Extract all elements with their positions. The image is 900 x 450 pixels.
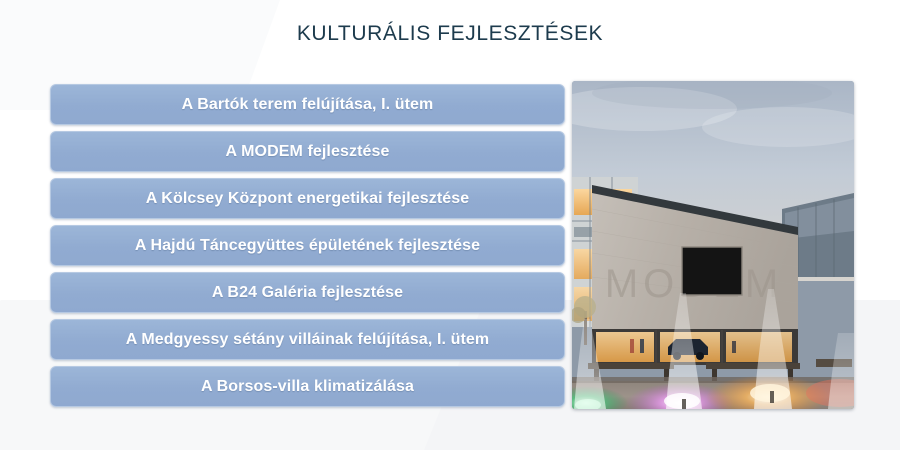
list-item-label: A Medgyessy sétány villáinak felújítása,… (126, 331, 489, 349)
list-item-label: A Kölcsey Központ energetikai fejlesztés… (146, 190, 470, 208)
modem-building-photo: MODEM (572, 81, 854, 409)
list-item-label: A Borsos-villa klimatizálása (201, 378, 414, 396)
list-item-label: A Hajdú Táncegyüttes épületének fejleszt… (135, 237, 480, 255)
list-item[interactable]: A Medgyessy sétány villáinak felújítása,… (50, 319, 565, 360)
development-list: A Bartók terem felújítása, I. ütem A MOD… (50, 84, 565, 407)
list-item[interactable]: A Kölcsey Központ energetikai fejlesztés… (50, 178, 565, 219)
list-item-label: A Bartók terem felújítása, I. ütem (182, 96, 434, 114)
list-item[interactable]: A B24 Galéria fejlesztése (50, 272, 565, 313)
list-item-label: A MODEM fejlesztése (225, 143, 389, 161)
list-item-label: A B24 Galéria fejlesztése (212, 284, 403, 302)
page-title: KULTURÁLIS FEJLESZTÉSEK (0, 22, 900, 46)
list-item[interactable]: A Borsos-villa klimatizálása (50, 366, 565, 407)
list-item[interactable]: A MODEM fejlesztése (50, 131, 565, 172)
list-item[interactable]: A Bartók terem felújítása, I. ütem (50, 84, 565, 125)
list-item[interactable]: A Hajdú Táncegyüttes épületének fejleszt… (50, 225, 565, 266)
slide-canvas: KULTURÁLIS FEJLESZTÉSEK A Bartók terem f… (0, 0, 900, 450)
modem-building-illustration: MODEM (572, 81, 854, 409)
